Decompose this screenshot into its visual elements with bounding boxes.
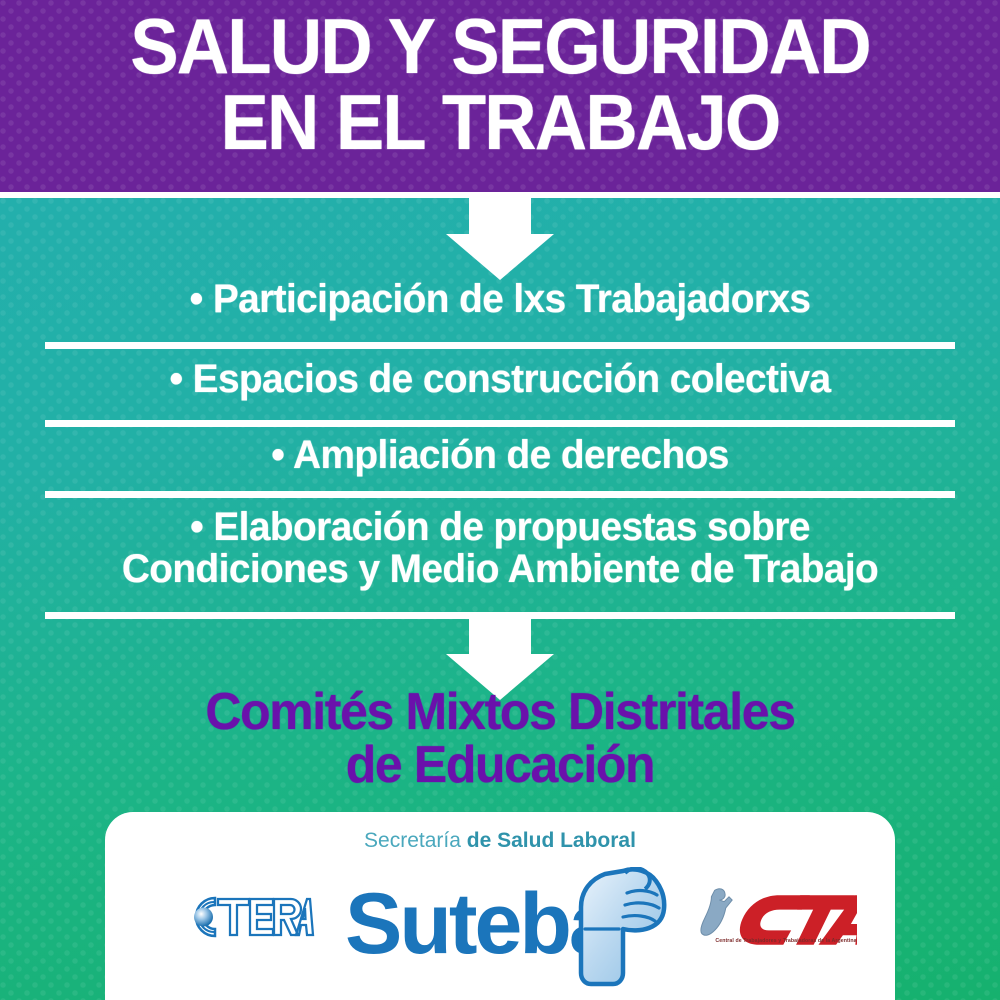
footer-caption-light: Secretaría	[364, 829, 467, 852]
ctera-logo-icon	[185, 894, 315, 940]
bullet-item-1: • Participación de lxs Trabajadorxs	[15, 278, 985, 320]
arrow-stem	[469, 618, 531, 654]
cta-logo-icon	[697, 884, 857, 956]
suteba-logo: Suteba	[345, 867, 675, 987]
bullet-item-2: • Espacios de construcción colectiva	[15, 358, 985, 400]
cta-logo: Central de Trabajadores y Trabajadoras d…	[697, 884, 857, 956]
logo-row: Suteba	[105, 862, 895, 987]
divider-2	[45, 420, 955, 427]
poster-canvas: SALUD Y SEGURIDAD EN EL TRABAJO • Partic…	[0, 0, 1000, 1000]
footer-panel: Secretaría de Salud Laboral	[105, 812, 895, 1000]
suteba-hand-icon	[561, 867, 671, 987]
page-title: SALUD Y SEGURIDAD EN EL TRABAJO	[35, 8, 965, 161]
arrow-stem	[469, 198, 531, 234]
divider-3	[45, 491, 955, 498]
bullet-item-3: • Ampliación de derechos	[15, 434, 985, 476]
header-band: SALUD Y SEGURIDAD EN EL TRABAJO	[0, 0, 1000, 192]
conclusion-heading: Comités Mixtos Distritales de Educación	[20, 686, 980, 792]
divider-1	[45, 342, 955, 349]
cta-tagline: Central de Trabajadores y Trabajadoras d…	[713, 938, 859, 944]
arrow-head	[446, 234, 554, 280]
footer-caption: Secretaría de Salud Laboral	[105, 829, 895, 853]
down-arrow-icon	[446, 198, 554, 280]
ctera-logo	[185, 894, 315, 940]
bullet-item-4: • Elaboración de propuestas sobre Condic…	[15, 506, 985, 590]
footer-caption-bold: de Salud Laboral	[467, 829, 636, 852]
